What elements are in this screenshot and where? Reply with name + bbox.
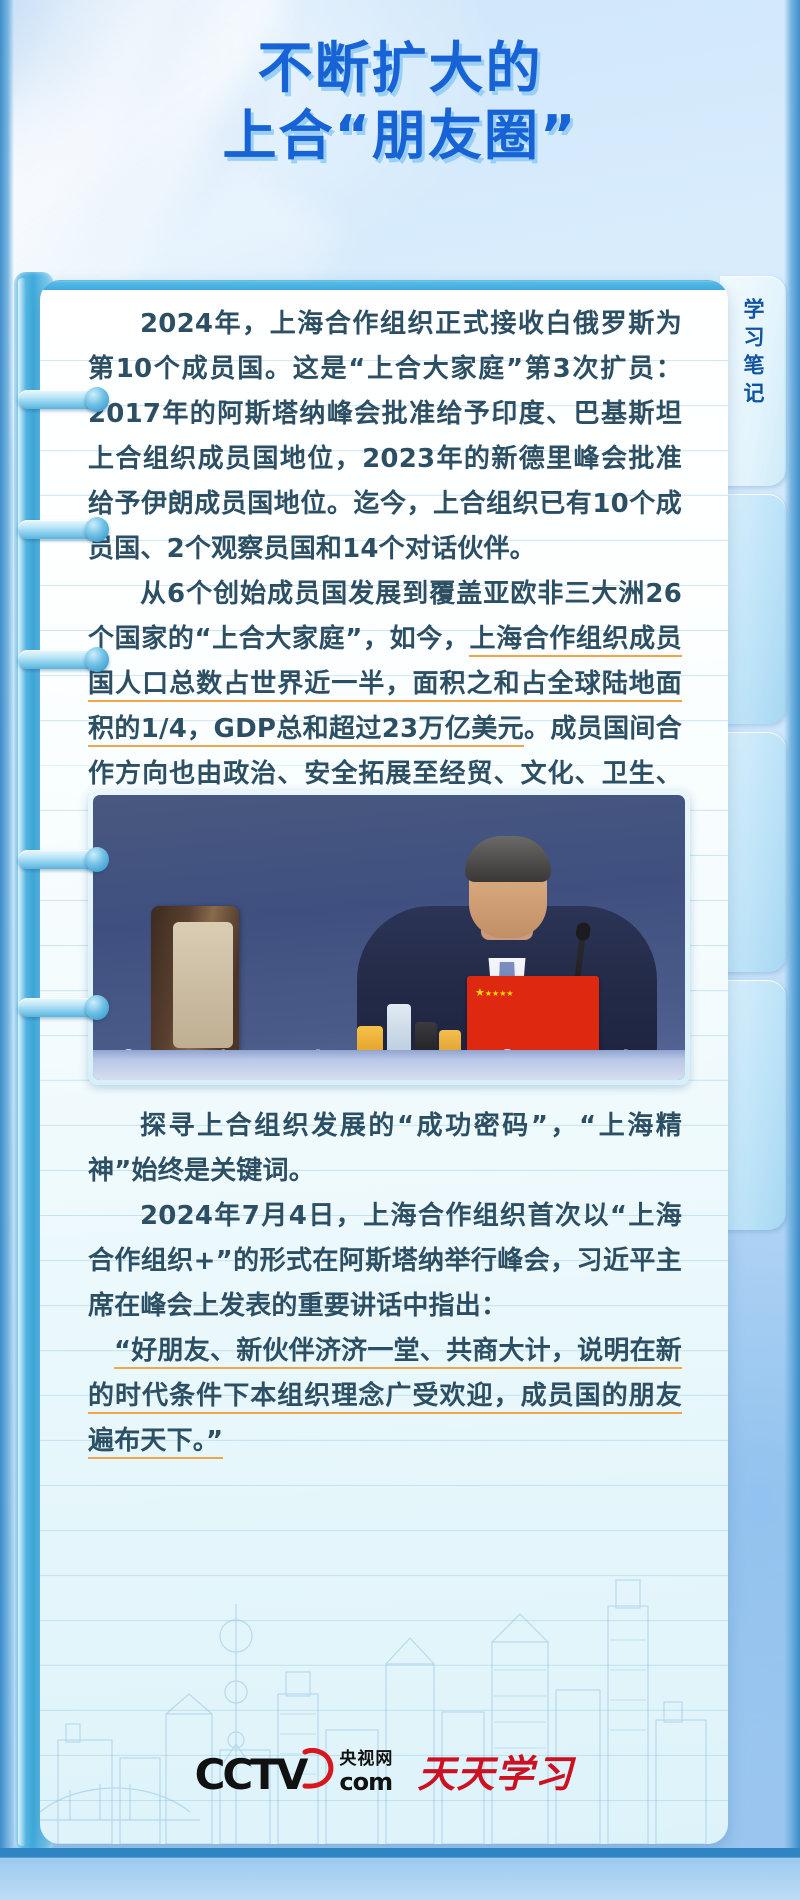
cctv-chinese-name: 央视网 [339,1751,393,1768]
paragraph-5: “好朋友、新伙伴济济一堂、共商大计，说明在新的时代条件下本组织理念广受欢迎，成员… [88,1329,682,1464]
title-line-1: 不断扩大的 [0,34,800,102]
article-photo: ★★★★★ [88,790,690,1085]
cctv-logo: CCTV 央视网 com [195,1748,394,1794]
cctv-swoosh-icon [301,1748,335,1792]
frame-left-edge [0,0,14,1900]
index-tab-1[interactable]: 学习笔记 [720,276,786,486]
index-tab-3[interactable] [720,732,786,972]
conference-table [93,1050,685,1080]
binding-ring [18,390,104,409]
hair [465,836,551,882]
cctv-wordmark: CCTV [195,1756,306,1794]
binding-ring [18,850,104,869]
binding-ring [18,650,104,669]
index-tab-label: 学习笔记 [738,298,768,410]
paragraph-4: 2024年7月4日，上海合作组织首次以“上海合作组织+”的形式在阿斯塔纳举行峰会… [88,1194,682,1329]
chair [151,906,239,1056]
page-top-bar [40,280,728,290]
article-body-bottom: 探寻上合组织发展的“成功密码”，“上海精神”始终是关键词。 2024年7月4日，… [88,1104,682,1464]
notebook-card: 学习笔记 2024年，上海合作组织正式接收白俄罗斯为第10个成员国。这是“上合大… [14,272,786,1852]
cctv-suffix: 央视网 com [339,1751,393,1794]
frame-bottom-band [0,1848,800,1900]
flag-stars: ★★★★★ [475,986,514,999]
paragraph-3: 探寻上合组织发展的“成功密码”，“上海精神”始终是关键词。 [88,1104,682,1194]
article-body-top: 2024年，上海合作组织正式接收白俄罗斯为第10个成员国。这是“上合大家庭”第3… [88,302,682,842]
index-tab-4[interactable] [720,980,786,1230]
highlight-quote: “好朋友、新伙伴济济一堂、共商大计，说明在新的时代条件下本组织理念广受欢迎，成员… [88,1336,682,1459]
cctv-domain: com [339,1770,393,1794]
footer-logos: CCTV 央视网 com 天天学习 [40,1743,728,1798]
paragraph-1: 2024年，上海合作组织正式接收白俄罗斯为第10个成员国。这是“上合大家庭”第3… [88,302,682,572]
frame-right-edge [784,0,800,1900]
poster-root: 不断扩大的 上合“朋友圈” 学习笔记 2024年，上海合作组织正式接收白俄罗斯为… [0,0,800,1900]
binding-ring [18,998,104,1017]
photo-canvas: ★★★★★ [93,795,685,1080]
title-line-2: 上合“朋友圈” [0,102,800,170]
brand-wordmark: 天天学习 [417,1743,573,1798]
notebook-page: 2024年，上海合作组织正式接收白俄罗斯为第10个成员国。这是“上合大家庭”第3… [40,280,728,1844]
paragraph-4-lead: 2024年7月4日，上海合作组织首次以“上海合作组织+”的形式在阿斯塔纳举行峰会… [88,1201,682,1321]
binding-ring [18,520,104,539]
page-title: 不断扩大的 上合“朋友圈” [0,34,800,170]
index-tab-2[interactable] [720,494,786,724]
skyline-watermark [40,1544,728,1844]
spine-highlight [18,278,26,1846]
